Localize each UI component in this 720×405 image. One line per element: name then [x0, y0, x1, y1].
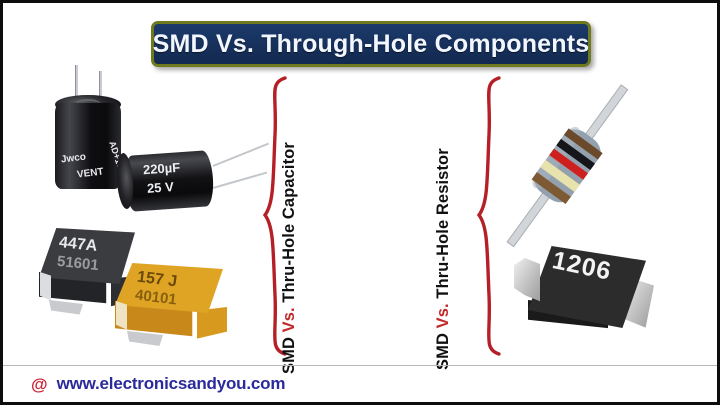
website-url[interactable]: www.electronicsandyou.com: [57, 374, 286, 394]
capacitor-capacitance-text: 220µF: [143, 160, 181, 178]
capacitor-voltage-text: 25 V: [147, 179, 175, 196]
title-banner: SMD Vs. Through-Hole Components: [151, 21, 591, 67]
capacitor-lead: [213, 172, 267, 189]
smd-capacitor-terminal: [127, 331, 163, 353]
smd-capacitor-terminal: [49, 300, 83, 322]
right-group-brace: [469, 75, 503, 357]
right-section-label: SMD Vs. Thru-Hole Resistor: [434, 148, 453, 370]
smd-chip-resistor: 1206: [508, 238, 668, 358]
left-section-label: SMD Vs. Thru-Hole Capacitor: [280, 142, 299, 374]
infographic-canvas: SMD Vs. Through-Hole Components SMD Vs. …: [0, 0, 720, 405]
right-label-vs: Vs.: [434, 303, 452, 328]
smd-capacitor-side-face: [197, 307, 227, 351]
left-label-prefix: SMD: [280, 332, 298, 374]
capacitor-lead: [213, 143, 269, 167]
footer-divider: [3, 365, 717, 366]
smd-capacitor-polarity-stripe: [116, 301, 127, 337]
page-title: SMD Vs. Through-Hole Components: [153, 30, 590, 59]
left-label-suffix: Thru-Hole Capacitor: [280, 142, 298, 307]
radial-electrolytic-capacitor-small: 220µF 25 V: [121, 135, 271, 221]
right-label-prefix: SMD: [434, 328, 452, 370]
left-label-vs: Vs.: [280, 307, 298, 332]
through-hole-resistor: [503, 75, 633, 255]
resistor-lead: [582, 85, 627, 143]
footer: @ www.electronicsandyou.com: [31, 374, 285, 394]
right-label-suffix: Thru-Hole Resistor: [434, 148, 452, 303]
smd-tantalum-capacitor-yellow: 157 J 40101: [105, 261, 235, 351]
at-sign-icon: @: [31, 376, 48, 393]
smd-capacitor-polarity-stripe: [40, 272, 51, 308]
